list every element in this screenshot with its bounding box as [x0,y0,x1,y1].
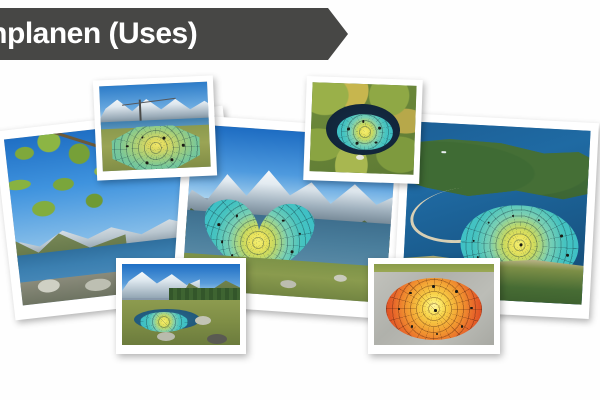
photo-top-right[interactable] [303,76,423,184]
net-rings [140,312,188,332]
net-anchor-points [336,113,393,151]
radial-net-warm [386,278,482,340]
rock [195,316,211,325]
circular-net-pond [336,113,393,151]
photo-top-right-image [310,82,417,175]
net-anchor-points [386,278,482,340]
arrow-right-icon [328,8,348,60]
rock [207,334,227,344]
photo-bottom-center-image [374,264,494,345]
banner-title: rnplanen (Uses) [0,8,197,60]
boat [442,151,447,153]
vegetation-strip-top [374,264,494,272]
photo-top-left[interactable] [93,75,217,180]
photo-bottom-center[interactable] [368,258,500,354]
photo-bottom-left-image [122,264,240,345]
circular-net-tarn [140,312,188,332]
slide-canvas: rnplanen (Uses) [0,0,600,400]
photo-bottom-left[interactable] [116,258,246,354]
photo-top-left-image [99,82,211,172]
